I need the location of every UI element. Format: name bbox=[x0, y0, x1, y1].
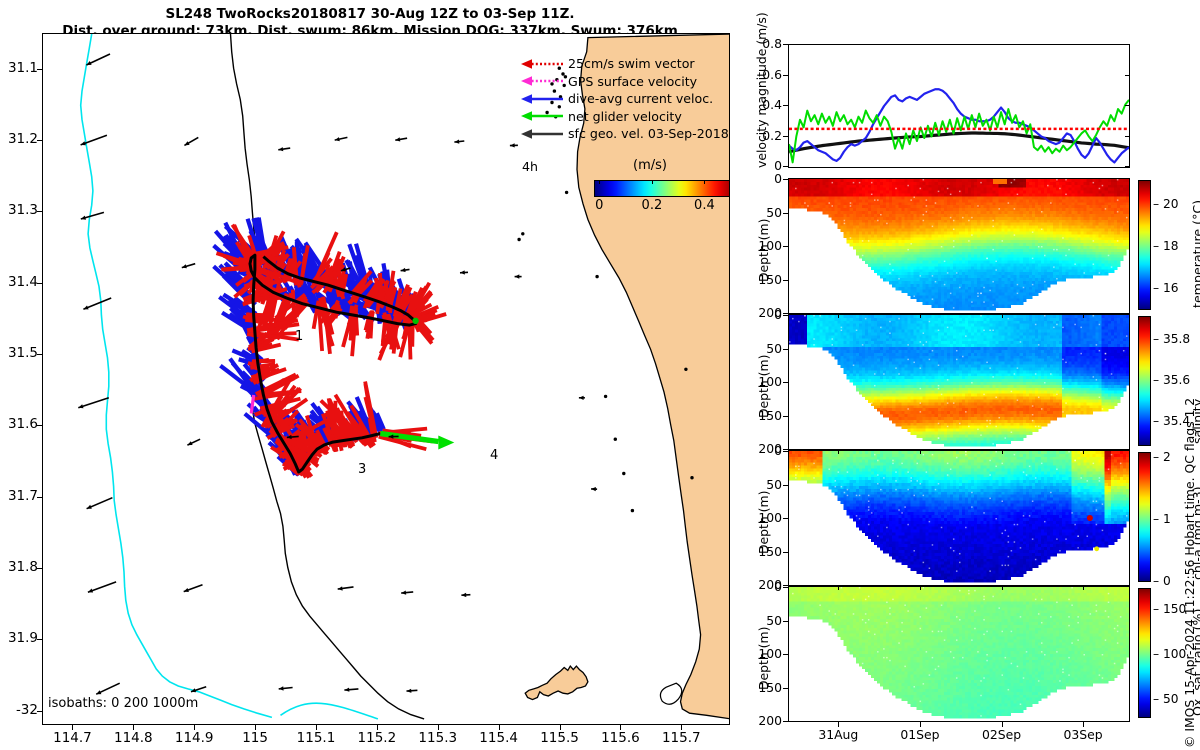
oxygen-saturation-ratio-y-tick-label: 150 bbox=[746, 680, 782, 695]
oxygen-saturation-ratio-colorbar bbox=[1138, 588, 1151, 718]
temperature-y-tick bbox=[783, 280, 788, 281]
map-y-tick-label: 31.5 bbox=[0, 345, 38, 361]
map-colorbar-tick-label: 0 bbox=[579, 198, 619, 213]
map-x-tick-label: 115 bbox=[225, 730, 285, 746]
map-x-tick bbox=[255, 725, 256, 730]
section-time-tick bbox=[920, 586, 921, 590]
temperature-colorbar-tick-label: – 18 bbox=[1153, 239, 1178, 253]
legend-arrow-icon bbox=[518, 57, 565, 71]
chl-a-y-tick-label: 100 bbox=[746, 510, 782, 525]
map-x-tick bbox=[377, 725, 378, 730]
map-velocity-colorbar bbox=[594, 180, 730, 197]
map-x-tick-label: 114.7 bbox=[42, 730, 102, 746]
salinity-y-tick-label: 100 bbox=[746, 374, 782, 389]
temperature-y-tick bbox=[783, 179, 788, 180]
isobath-legend-label: isobaths: 0 200 1000m bbox=[48, 696, 198, 711]
section-time-tick bbox=[920, 722, 921, 726]
section-time-tick bbox=[1002, 722, 1003, 726]
oxygen-saturation-ratio-y-tick-label: 50 bbox=[746, 613, 782, 628]
map-x-tick-label: 115.1 bbox=[286, 730, 346, 746]
glider-track-map[interactable]: isobaths: 0 200 1000m 25cm/s swim vector… bbox=[42, 33, 730, 725]
map-x-tick-label: 115.7 bbox=[651, 730, 711, 746]
oxygen-saturation-ratio-colorbar-tick-label: – 50 bbox=[1153, 692, 1178, 706]
temperature-section-plot[interactable] bbox=[788, 178, 1130, 314]
velocity-y-tick bbox=[783, 44, 788, 45]
temperature-y-tick-label: 150 bbox=[746, 272, 782, 287]
velocity-y-tick-right bbox=[1125, 75, 1130, 76]
map-waypoint-label: 4 bbox=[490, 448, 498, 463]
chlorophyll-section-graphics bbox=[789, 451, 1129, 585]
map-x-tick-label: 114.8 bbox=[103, 730, 163, 746]
velocity-y-tick bbox=[783, 166, 788, 167]
legend-arrow-icon bbox=[518, 127, 565, 141]
title-line-1: SL248 TwoRocks20180817 30-Aug 12Z to 03-… bbox=[0, 6, 740, 23]
time-axis-tick-label: 01Sep bbox=[892, 727, 948, 742]
legend-entry-label: net glider velocity bbox=[565, 109, 682, 124]
map-x-tick bbox=[194, 725, 195, 730]
credit-text: © IMOS 15-Apr-2024 11:22:56 Hobart time.… bbox=[1182, 398, 1197, 748]
temperature-y-tick bbox=[783, 213, 788, 214]
chl-a-colorbar-tick-label: – 2 bbox=[1153, 450, 1171, 464]
map-y-tick-label: 31.4 bbox=[0, 274, 38, 290]
map-y-tick-label: 31.6 bbox=[0, 416, 38, 432]
map-x-tick bbox=[560, 725, 561, 730]
map-colorbar-tick-label: 0.4 bbox=[684, 198, 724, 213]
temperature-section-graphics bbox=[789, 179, 1129, 313]
map-y-tick-label: 31.8 bbox=[0, 559, 38, 575]
legend-entry-label: 25cm/s swim vector bbox=[565, 56, 695, 71]
oxygen-saturation-ratio-y-tick-label: 200 bbox=[746, 713, 782, 728]
map-colorbar-tick bbox=[599, 180, 600, 184]
salinity-y-tick-label: 0 bbox=[746, 307, 782, 322]
salinity-y-tick bbox=[783, 382, 788, 383]
salinity-y-tick bbox=[783, 349, 788, 350]
salinity-colorbar bbox=[1138, 316, 1151, 446]
salinity-colorbar-tick-label: – 35.6 bbox=[1153, 373, 1190, 387]
oxygen-saturation-ratio-y-tick-label: 0 bbox=[746, 579, 782, 594]
chl-a-y-tick bbox=[783, 451, 788, 452]
map-x-tick-label: 115.3 bbox=[408, 730, 468, 746]
velocity-y-tick-right bbox=[1125, 136, 1130, 137]
velocity-y-tick bbox=[783, 75, 788, 76]
map-x-tick bbox=[438, 725, 439, 730]
salinity-y-tick-label: 150 bbox=[746, 408, 782, 423]
temperature-y-tick bbox=[783, 313, 788, 314]
map-x-tick bbox=[316, 725, 317, 730]
map-x-tick bbox=[133, 725, 134, 730]
map-x-tick bbox=[620, 725, 621, 730]
salinity-section-plot[interactable] bbox=[788, 314, 1130, 450]
chl-a-y-tick bbox=[783, 552, 788, 553]
section-time-tick bbox=[838, 586, 839, 590]
time-axis-tick-label: 03Sep bbox=[1055, 727, 1111, 742]
legend-entry-label: dive-avg current veloc. bbox=[565, 91, 713, 106]
salinity-y-tick-label: 50 bbox=[746, 341, 782, 356]
map-y-tick-label: 31.7 bbox=[0, 488, 38, 504]
map-colorbar-tick bbox=[652, 180, 653, 184]
legend-arrow-icon bbox=[518, 74, 565, 88]
velocity-y-tick bbox=[783, 105, 788, 106]
oxygen-saturation-ratio-y-tick bbox=[783, 654, 788, 655]
legend-time-scale: 4h bbox=[522, 159, 538, 174]
chl-a-y-tick-label: 150 bbox=[746, 544, 782, 559]
chl-a-colorbar-tick-label: – 0 bbox=[1153, 574, 1171, 588]
section-time-tick bbox=[1002, 586, 1003, 590]
oxygen-saturation-ratio-y-tick-label: 100 bbox=[746, 646, 782, 661]
chl-a-y-tick-label: 50 bbox=[746, 477, 782, 492]
salinity-y-tick bbox=[783, 449, 788, 450]
section-time-tick bbox=[1002, 450, 1003, 454]
oxygen-saturation-ratio-y-tick bbox=[783, 688, 788, 689]
chl-a-y-tick-label: 0 bbox=[746, 443, 782, 458]
velocity-y-tick-label: 0.2 bbox=[748, 128, 782, 143]
velocity-y-tick-right bbox=[1125, 105, 1130, 106]
map-colorbar-tick-label: 0.2 bbox=[632, 198, 672, 213]
section-time-tick bbox=[920, 450, 921, 454]
map-y-tick-label: 31.2 bbox=[0, 131, 38, 147]
chl-a-y-tick bbox=[783, 585, 788, 586]
legend-entry: sfc geo. vel. 03-Sep-2018 bbox=[518, 125, 723, 143]
velocity-y-tick bbox=[783, 136, 788, 137]
legend-entry: dive-avg current veloc. bbox=[518, 90, 723, 108]
map-waypoint-label: 3 bbox=[358, 462, 366, 477]
legend-colorbar-units: (m/s) bbox=[633, 158, 667, 173]
chlorophyll-section-plot[interactable] bbox=[788, 450, 1130, 586]
legend-entry: GPS surface velocity bbox=[518, 73, 723, 91]
map-x-tick-label: 114.9 bbox=[164, 730, 224, 746]
velocity-magnitude-plot[interactable] bbox=[788, 44, 1130, 168]
map-y-tick-label: 31.3 bbox=[0, 202, 38, 218]
map-legend: 25cm/s swim vectorGPS surface velocitydi… bbox=[518, 55, 723, 143]
temperature-y-tick-label: 50 bbox=[746, 205, 782, 220]
map-x-tick-label: 115.5 bbox=[530, 730, 590, 746]
velocity-y-tick-right bbox=[1125, 166, 1130, 167]
section-time-tick bbox=[1083, 314, 1084, 318]
temperature-y-tick bbox=[783, 246, 788, 247]
velocity-series-graphics bbox=[789, 45, 1129, 167]
legend-arrow-icon bbox=[518, 92, 565, 106]
legend-entry: 25cm/s swim vector bbox=[518, 55, 723, 73]
map-x-tick-label: 115.2 bbox=[347, 730, 407, 746]
time-axis-tick-label: 02Sep bbox=[974, 727, 1030, 742]
section-time-tick bbox=[1002, 314, 1003, 318]
chl-a-y-tick bbox=[783, 485, 788, 486]
oxygen-saturation-ratio-y-tick bbox=[783, 621, 788, 622]
legend-entry: net glider velocity bbox=[518, 108, 723, 126]
section-time-tick bbox=[1083, 450, 1084, 454]
map-y-tick-label: 31.1 bbox=[0, 60, 38, 76]
chl-a-y-tick bbox=[783, 518, 788, 519]
legend-entry-label: GPS surface velocity bbox=[565, 74, 697, 89]
map-x-tick bbox=[72, 725, 73, 730]
map-x-tick-label: 115.6 bbox=[590, 730, 650, 746]
temperature-colorbar-tick-label: – 16 bbox=[1153, 281, 1178, 295]
legend-arrow-icon bbox=[518, 109, 565, 123]
legend-entry-label: sfc geo. vel. 03-Sep-2018 bbox=[565, 126, 729, 141]
temperature-y-tick-label: 100 bbox=[746, 238, 782, 253]
salinity-y-tick bbox=[783, 315, 788, 316]
section-time-tick bbox=[920, 314, 921, 318]
time-axis-tick-label: 31Aug bbox=[810, 727, 866, 742]
salinity-section-graphics bbox=[789, 315, 1129, 449]
section-time-tick bbox=[838, 722, 839, 726]
salinity-colorbar-tick-label: – 35.8 bbox=[1153, 332, 1190, 346]
chl-a-colorbar-tick-label: – 1 bbox=[1153, 512, 1171, 526]
oxygen-saturation-ratio-y-tick bbox=[783, 721, 788, 722]
oxygen-section-graphics bbox=[789, 587, 1129, 721]
temperature-colorbar-title: temperature (°C) bbox=[1190, 200, 1200, 308]
map-x-tick-label: 115.4 bbox=[469, 730, 529, 746]
map-x-tick bbox=[681, 725, 682, 730]
velocity-y-tick-label: 0.8 bbox=[748, 36, 782, 51]
temperature-y-tick-label: 0 bbox=[746, 171, 782, 186]
section-time-tick bbox=[838, 450, 839, 454]
map-y-tick-label: -32 bbox=[0, 702, 38, 718]
velocity-y-tick-right bbox=[1125, 44, 1130, 45]
section-time-tick bbox=[1083, 586, 1084, 590]
salinity-y-tick bbox=[783, 416, 788, 417]
temperature-colorbar-tick-label: – 20 bbox=[1153, 197, 1178, 211]
oxygen-saturation-ratio-y-tick bbox=[783, 587, 788, 588]
map-colorbar-tick bbox=[704, 180, 705, 184]
section-time-tick bbox=[838, 314, 839, 318]
section-time-tick bbox=[1083, 722, 1084, 726]
oxygen-section-plot[interactable] bbox=[788, 586, 1130, 722]
temperature-colorbar bbox=[1138, 180, 1151, 310]
map-waypoint-label: 1 bbox=[295, 329, 303, 344]
velocity-y-tick-label: 0.4 bbox=[748, 97, 782, 112]
map-y-tick-label: 31.9 bbox=[0, 630, 38, 646]
velocity-y-tick-label: 0.6 bbox=[748, 67, 782, 82]
map-x-tick bbox=[499, 725, 500, 730]
chl-a-colorbar bbox=[1138, 452, 1151, 582]
right-panel-column: velocity magnitude (m/s) 00.20.40.60.8 D… bbox=[742, 0, 1200, 750]
